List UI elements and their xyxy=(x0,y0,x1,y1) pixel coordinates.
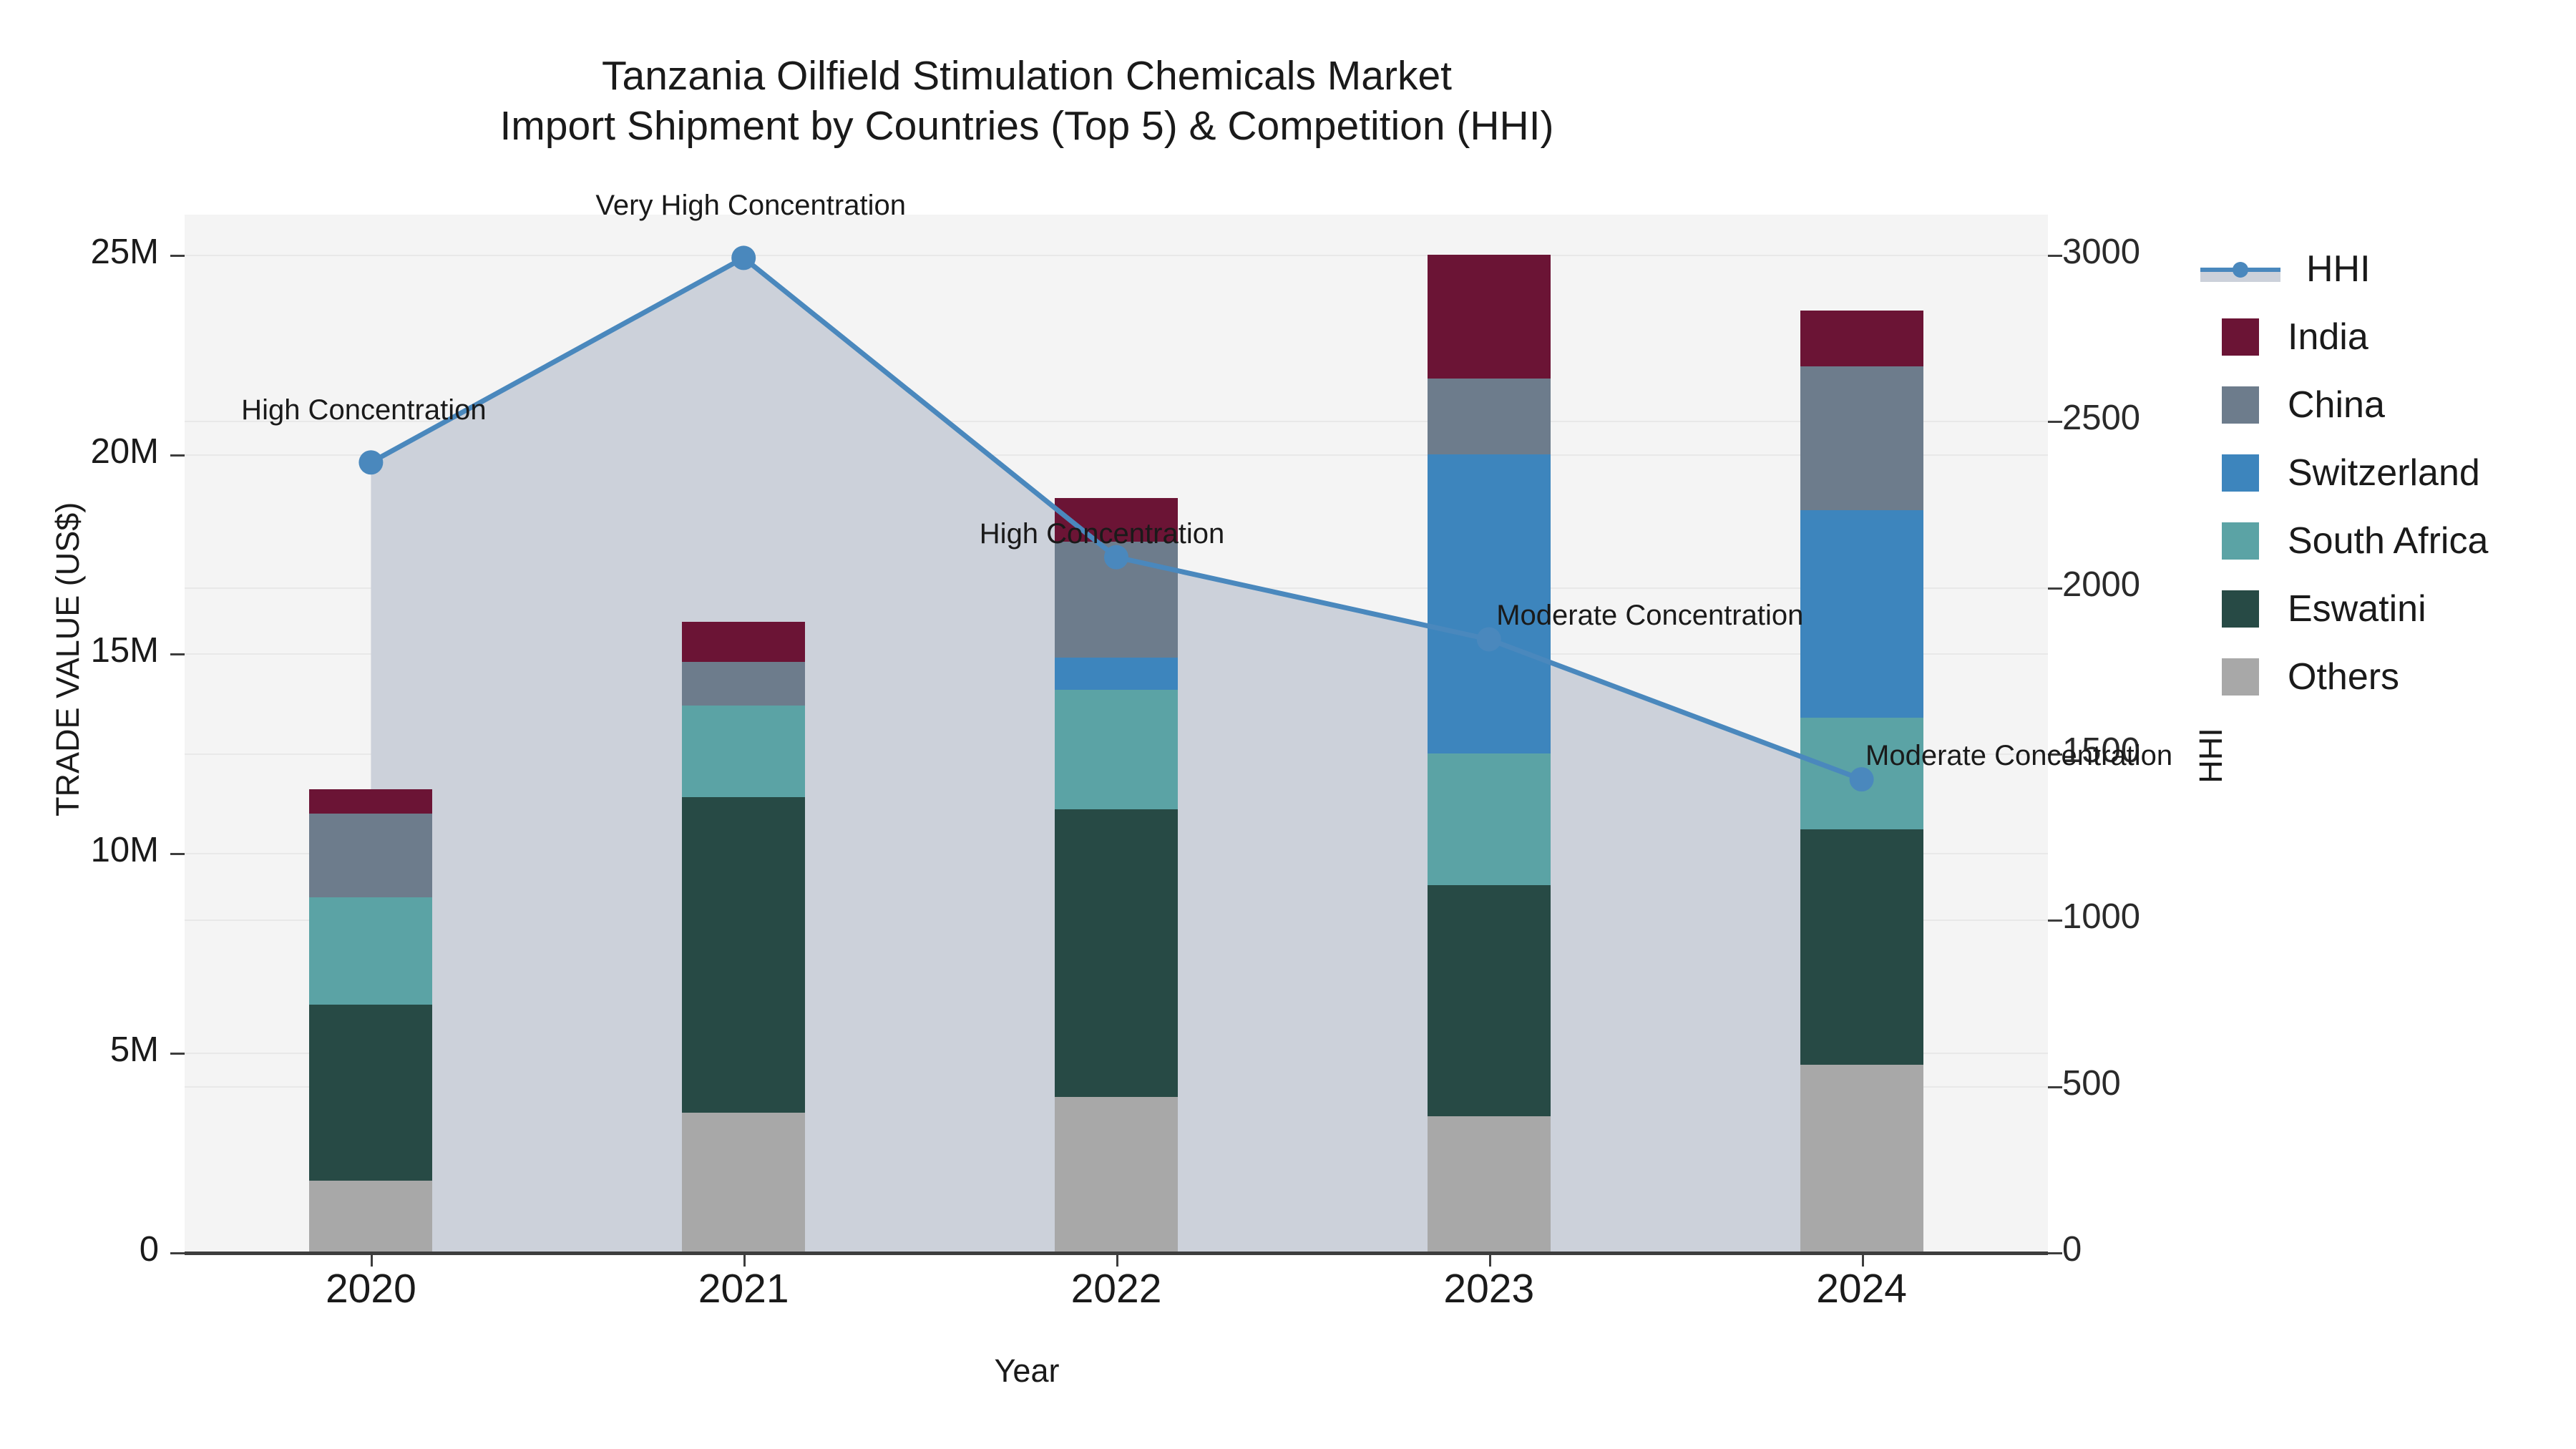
legend-item-label: China xyxy=(2288,386,2385,424)
legend-item-label: HHI xyxy=(2306,250,2371,288)
legend-item-eswatini[interactable]: Eswatini xyxy=(2200,575,2572,643)
legend-item-china[interactable]: China xyxy=(2200,371,2572,439)
x-tick-label-2021: 2021 xyxy=(636,1265,851,1312)
y-left-tickmark xyxy=(170,1252,185,1254)
chart-root: Tanzania Oilfield Stimulation Chemicals … xyxy=(0,0,2576,1449)
y-left-tickmark xyxy=(170,853,185,855)
y-right-tickmark xyxy=(2048,1086,2062,1088)
x-tickmark xyxy=(1862,1252,1864,1267)
y-left-tick-label: 0 xyxy=(0,1229,159,1269)
y-left-tickmark xyxy=(170,653,185,655)
y-right-tick-label: 1000 xyxy=(2062,897,2140,937)
annotation-2021: Very High Concentration xyxy=(595,190,906,222)
y-right-tickmark xyxy=(2048,1252,2062,1254)
chart-title-line-1: Tanzania Oilfield Stimulation Chemicals … xyxy=(0,52,2054,102)
legend-color-swatch xyxy=(2222,522,2259,560)
y-left-tick-label: 20M xyxy=(0,431,159,472)
legend-item-switzerland[interactable]: Switzerland xyxy=(2200,439,2572,507)
y-left-tick-label: 5M xyxy=(0,1030,159,1070)
legend-line-swatch xyxy=(2200,250,2280,288)
x-tickmark xyxy=(371,1252,373,1267)
y-right-tickmark xyxy=(2048,587,2062,590)
y-right-tickmark xyxy=(2048,255,2062,257)
hhi-marker-2021[interactable] xyxy=(731,245,756,270)
legend-line-marker xyxy=(2233,262,2248,278)
hhi-line-series xyxy=(185,215,2048,1252)
y-right-tick-label: 500 xyxy=(2062,1063,2121,1103)
legend-item-south-africa[interactable]: South Africa xyxy=(2200,507,2572,575)
y-right-tick-label: 2000 xyxy=(2062,565,2140,605)
y-left-tickmark xyxy=(170,454,185,457)
y-right-tick-label: 0 xyxy=(2062,1229,2082,1269)
legend: HHIIndiaChinaSwitzerlandSouth AfricaEswa… xyxy=(2200,235,2572,711)
legend-item-label: South Africa xyxy=(2288,522,2488,560)
legend-item-label: India xyxy=(2288,318,2368,356)
annotation-2023: Moderate Concentration xyxy=(1496,600,1803,632)
annotation-2020: High Concentration xyxy=(241,394,486,426)
hhi-marker-2020[interactable] xyxy=(358,450,383,474)
x-tickmark xyxy=(743,1252,746,1267)
y-left-tick-label: 25M xyxy=(0,232,159,272)
x-axis-title: Year xyxy=(0,1352,2054,1390)
y-axis-left-title: TRADE VALUE (US$) xyxy=(49,516,87,816)
x-tick-label-2023: 2023 xyxy=(1382,1265,1596,1312)
legend-item-others[interactable]: Others xyxy=(2200,643,2572,711)
y-right-tickmark xyxy=(2048,919,2062,922)
legend-color-swatch xyxy=(2222,454,2259,492)
y-left-tickmark xyxy=(170,1053,185,1055)
chart-title-line-2: Import Shipment by Countries (Top 5) & C… xyxy=(0,102,2054,152)
legend-color-swatch xyxy=(2222,590,2259,628)
legend-color-swatch xyxy=(2222,658,2259,696)
legend-item-hhi[interactable]: HHI xyxy=(2200,235,2572,303)
y-left-tickmark xyxy=(170,255,185,257)
legend-color-swatch xyxy=(2222,386,2259,424)
x-tick-label-2024: 2024 xyxy=(1755,1265,1969,1312)
annotation-2024: Moderate Concentration xyxy=(1865,740,2172,772)
legend-item-label: Eswatini xyxy=(2288,590,2426,628)
x-tick-label-2020: 2020 xyxy=(263,1265,478,1312)
x-tickmark xyxy=(1116,1252,1118,1267)
y-right-tick-label: 2500 xyxy=(2062,398,2140,438)
x-tickmark xyxy=(1489,1252,1491,1267)
annotation-2022: High Concentration xyxy=(980,518,1224,550)
y-axis-right-title: HHI xyxy=(2192,698,2230,813)
x-tick-label-2022: 2022 xyxy=(1009,1265,1224,1312)
chart-title: Tanzania Oilfield Stimulation Chemicals … xyxy=(0,52,2054,151)
plot-clip xyxy=(185,215,2048,1252)
y-right-tick-label: 3000 xyxy=(2062,232,2140,272)
legend-item-india[interactable]: India xyxy=(2200,303,2572,371)
y-left-tick-label: 10M xyxy=(0,830,159,870)
plot-area xyxy=(185,215,2048,1252)
legend-item-label: Others xyxy=(2288,658,2399,696)
y-right-tickmark xyxy=(2048,421,2062,423)
legend-color-swatch xyxy=(2222,318,2259,356)
legend-item-label: Switzerland xyxy=(2288,454,2480,492)
